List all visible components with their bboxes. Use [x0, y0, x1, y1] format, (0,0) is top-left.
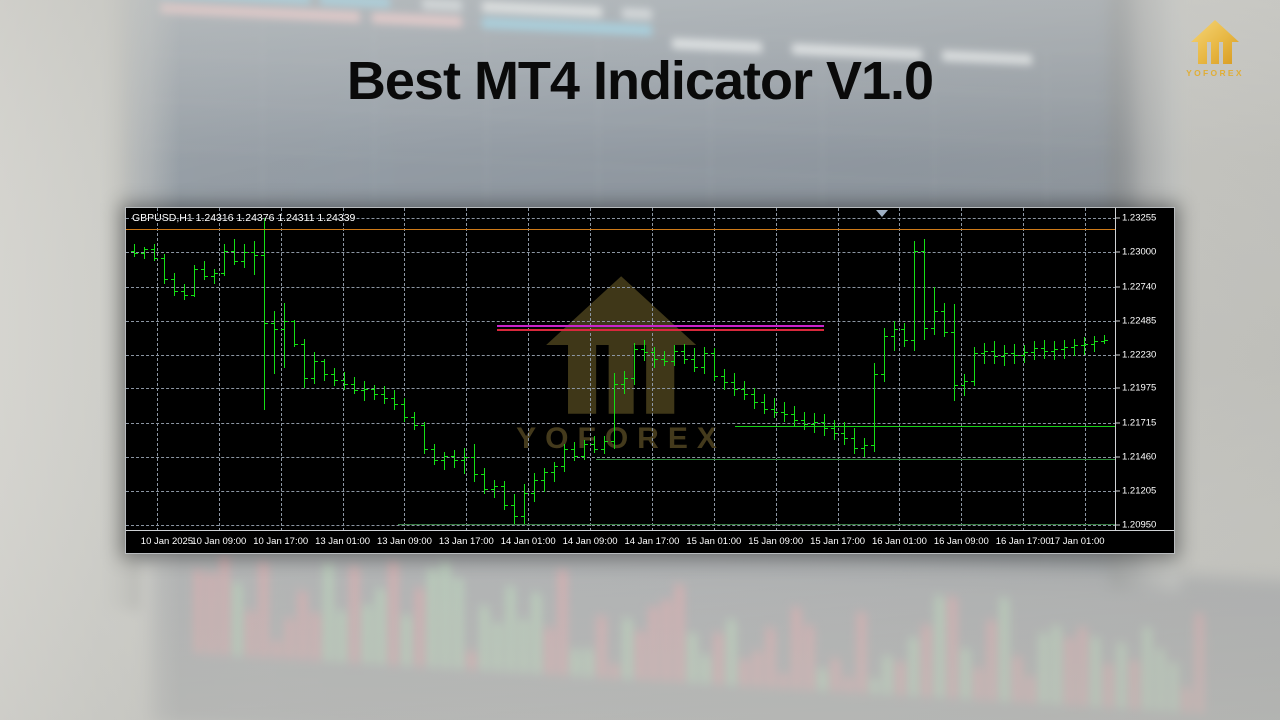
symbol-ohlc-label: GBPUSD,H1 1.24316 1.24376 1.24311 1.2433… — [132, 212, 355, 224]
ohlc-close-tick — [155, 258, 158, 259]
ohlc-close-tick — [1105, 340, 1108, 341]
ohlc-bar — [964, 374, 965, 395]
ohlc-bar — [354, 377, 355, 394]
ohlc-close-tick — [755, 402, 758, 403]
ohlc-close-tick — [295, 344, 298, 345]
ohlc-open-tick — [851, 438, 854, 439]
ohlc-open-tick — [951, 332, 954, 333]
ohlc-close-tick — [165, 279, 168, 280]
ohlc-close-tick — [615, 384, 618, 385]
ohlc-close-tick — [1085, 344, 1088, 345]
ohlc-open-tick — [881, 374, 884, 375]
ohlc-close-tick — [735, 389, 738, 390]
ohlc-close-tick — [435, 460, 438, 461]
ohlc-open-tick — [171, 279, 174, 280]
ohlc-open-tick — [221, 273, 224, 274]
ohlc-bar — [464, 448, 465, 475]
ohlc-open-tick — [721, 376, 724, 377]
price-tick — [1116, 251, 1120, 252]
ohlc-bar — [874, 363, 875, 452]
ohlc-bar — [864, 438, 865, 457]
ohlc-open-tick — [1091, 344, 1094, 345]
ohlc-close-tick — [185, 295, 188, 296]
resistance-magenta — [497, 325, 824, 327]
ohlc-bar — [414, 412, 415, 431]
ohlc-bar — [254, 241, 255, 274]
ohlc-close-tick — [285, 321, 288, 322]
mt4-chart-window[interactable]: YOFOREX GBPUSD,H1 1.24316 1.24376 1.2431… — [125, 207, 1175, 554]
ohlc-open-tick — [701, 367, 704, 368]
ohlc-open-tick — [961, 385, 964, 386]
ohlc-open-tick — [201, 269, 204, 270]
ohlc-open-tick — [671, 361, 674, 362]
ohlc-open-tick — [381, 394, 384, 395]
ohlc-open-tick — [861, 448, 864, 449]
ohlc-bar — [294, 320, 295, 347]
time-tick-label: 14 Jan 01:00 — [501, 536, 556, 547]
ohlc-bar — [524, 484, 525, 525]
ohlc-bar — [274, 311, 275, 375]
chart-plot-area[interactable]: YOFOREX GBPUSD,H1 1.24316 1.24376 1.2431… — [126, 208, 1116, 531]
ohlc-close-tick — [415, 425, 418, 426]
ohlc-bar — [554, 462, 555, 482]
page-title: Best MT4 Indicator V1.0 — [0, 50, 1280, 112]
ohlc-bar — [804, 412, 805, 431]
price-tick-label: 1.23000 — [1122, 246, 1156, 257]
time-tick-label: 15 Jan 17:00 — [810, 536, 865, 547]
ohlc-close-tick — [325, 374, 328, 375]
time-tick-label: 16 Jan 09:00 — [934, 536, 989, 547]
ohlc-bar — [674, 345, 675, 366]
ohlc-open-tick — [731, 382, 734, 383]
ohlc-close-tick — [375, 394, 378, 395]
price-tick-label: 1.21460 — [1122, 452, 1156, 463]
ohlc-bar — [704, 347, 705, 375]
ohlc-close-tick — [235, 261, 238, 262]
ohlc-open-tick — [511, 505, 514, 506]
ohlc-open-tick — [211, 276, 214, 277]
ohlc-close-tick — [395, 404, 398, 405]
ohlc-open-tick — [291, 321, 294, 322]
ohlc-open-tick — [1051, 351, 1054, 352]
ohlc-open-tick — [561, 466, 564, 467]
ohlc-close-tick — [135, 253, 138, 254]
ohlc-open-tick — [311, 378, 314, 379]
ohlc-bar — [1034, 341, 1035, 360]
ohlc-close-tick — [585, 444, 588, 445]
price-scale[interactable]: 1.232551.230001.227401.224851.222301.219… — [1115, 208, 1174, 531]
ohlc-bar — [724, 369, 725, 390]
ohlc-bar — [324, 359, 325, 382]
ohlc-open-tick — [471, 457, 474, 458]
ohlc-open-tick — [821, 422, 824, 423]
ohlc-open-tick — [161, 258, 164, 259]
price-tick — [1116, 320, 1120, 321]
ohlc-bar — [344, 372, 345, 391]
ohlc-open-tick — [131, 251, 134, 252]
ohlc-close-tick — [905, 340, 908, 341]
ohlc-close-tick — [145, 249, 148, 250]
ohlc-open-tick — [831, 428, 834, 429]
ohlc-open-tick — [361, 390, 364, 391]
ohlc-open-tick — [1101, 341, 1104, 342]
ohlc-close-tick — [175, 291, 178, 292]
ohlc-close-tick — [695, 367, 698, 368]
ohlc-close-tick — [845, 438, 848, 439]
ohlc-open-tick — [971, 381, 974, 382]
ohlc-bar — [134, 244, 135, 257]
ohlc-open-tick — [531, 493, 534, 494]
ohlc-bar — [794, 406, 795, 426]
time-tick-label: 10 Jan 17:00 — [253, 536, 308, 547]
ohlc-bar — [314, 352, 315, 384]
ohlc-open-tick — [621, 384, 624, 385]
ohlc-close-tick — [265, 323, 268, 324]
time-scale[interactable]: 10 Jan 202510 Jan 09:0010 Jan 17:0013 Ja… — [126, 530, 1174, 553]
ohlc-bar — [494, 480, 495, 499]
ohlc-bar — [734, 373, 735, 396]
ohlc-bar — [184, 284, 185, 300]
upper-resistance-orange — [126, 229, 1116, 230]
ohlc-close-tick — [355, 390, 358, 391]
ohlc-open-tick — [481, 474, 484, 475]
ohlc-bar — [364, 381, 365, 401]
ohlc-close-tick — [1005, 353, 1008, 354]
ohlc-bar — [404, 398, 405, 422]
ohlc-close-tick — [655, 359, 658, 360]
ohlc-close-tick — [945, 332, 948, 333]
time-tick-label: 14 Jan 17:00 — [624, 536, 679, 547]
ohlc-close-tick — [665, 361, 668, 362]
ohlc-bar — [474, 444, 475, 483]
ohlc-close-tick — [1065, 347, 1068, 348]
ohlc-bar — [514, 494, 515, 523]
support-lower-green — [398, 524, 1116, 525]
ohlc-bar — [654, 347, 655, 368]
ohlc-bar — [604, 436, 605, 455]
ohlc-close-tick — [1015, 355, 1018, 356]
ohlc-bar — [754, 388, 755, 409]
ohlc-close-tick — [765, 409, 768, 410]
price-tick-label: 1.21715 — [1122, 418, 1156, 429]
ohlc-bar — [204, 261, 205, 280]
time-tick-label: 16 Jan 17:00 — [996, 536, 1051, 547]
ohlc-close-tick — [1045, 351, 1048, 352]
ohlc-open-tick — [1061, 349, 1064, 350]
ohlc-open-tick — [771, 409, 774, 410]
ohlc-bar — [664, 351, 665, 367]
ohlc-close-tick — [775, 412, 778, 413]
ohlc-open-tick — [301, 344, 304, 345]
ohlc-open-tick — [261, 255, 264, 256]
ohlc-bar — [784, 402, 785, 422]
ohlc-open-tick — [501, 486, 504, 487]
time-tick-label: 13 Jan 17:00 — [439, 536, 494, 547]
ohlc-open-tick — [421, 425, 424, 426]
ohlc-close-tick — [555, 466, 558, 467]
price-tick — [1116, 218, 1120, 219]
promo-banner: Best MT4 Indicator V1.0 YOFOREX — [0, 0, 1280, 720]
price-tick — [1116, 457, 1120, 458]
ohlc-close-tick — [1075, 345, 1078, 346]
ohlc-open-tick — [591, 444, 594, 445]
ohlc-open-tick — [1081, 345, 1084, 346]
ohlc-bar — [444, 452, 445, 471]
price-tick-label: 1.22230 — [1122, 349, 1156, 360]
ohlc-open-tick — [541, 480, 544, 481]
time-tick-label: 15 Jan 09:00 — [748, 536, 803, 547]
ohlc-open-tick — [1031, 352, 1034, 353]
ohlc-bar — [624, 371, 625, 395]
ohlc-close-tick — [1055, 349, 1058, 350]
ohlc-open-tick — [981, 353, 984, 354]
ohlc-open-tick — [1001, 356, 1004, 357]
ohlc-open-tick — [811, 424, 814, 425]
ohlc-close-tick — [455, 460, 458, 461]
ohlc-bar — [1064, 340, 1065, 359]
ohlc-close-tick — [975, 353, 978, 354]
ohlc-bar — [1084, 337, 1085, 354]
ohlc-close-tick — [1095, 341, 1098, 342]
ohlc-open-tick — [941, 311, 944, 312]
ohlc-bar — [594, 436, 595, 453]
ohlc-bar — [574, 442, 575, 461]
ohlc-close-tick — [1025, 352, 1028, 353]
ohlc-close-tick — [995, 356, 998, 357]
ohlc-open-tick — [681, 351, 684, 352]
ohlc-bar — [1074, 339, 1075, 356]
ohlc-open-tick — [661, 359, 664, 360]
ohlc-open-tick — [191, 295, 194, 296]
price-tick-label: 1.21205 — [1122, 486, 1156, 497]
ohlc-close-tick — [635, 349, 638, 350]
ohlc-open-tick — [521, 516, 524, 517]
ohlc-bar — [1044, 340, 1045, 359]
price-tick-label: 1.22740 — [1122, 281, 1156, 292]
sell-arrow-marker-icon — [876, 210, 888, 217]
ohlc-open-tick — [251, 252, 254, 253]
ohlc-bar — [914, 241, 915, 350]
ohlc-open-tick — [641, 349, 644, 350]
support-mid-green — [596, 459, 1116, 460]
price-tick — [1116, 286, 1120, 287]
ohlc-open-tick — [401, 404, 404, 405]
ohlc-close-tick — [675, 351, 678, 352]
ohlc-open-tick — [801, 420, 804, 421]
ohlc-close-tick — [935, 311, 938, 312]
ohlc-close-tick — [885, 336, 888, 337]
ohlc-bar — [224, 244, 225, 276]
ohlc-bar — [484, 468, 485, 495]
ohlc-open-tick — [1041, 348, 1044, 349]
ohlc-open-tick — [921, 251, 924, 252]
yoforex-arrow-house-icon — [1189, 18, 1241, 66]
ohlc-open-tick — [491, 489, 494, 490]
ohlc-bar — [824, 414, 825, 435]
ohlc-bar — [954, 304, 955, 401]
resistance-red — [497, 329, 824, 331]
ohlc-open-tick — [391, 398, 394, 399]
ohlc-bar — [334, 368, 335, 387]
time-tick-label: 13 Jan 09:00 — [377, 536, 432, 547]
ohlc-bar — [1094, 336, 1095, 352]
ohlc-open-tick — [241, 261, 244, 262]
ohlc-close-tick — [805, 424, 808, 425]
ohlc-open-tick — [691, 359, 694, 360]
price-tick — [1116, 354, 1120, 355]
ohlc-bar — [694, 348, 695, 372]
ohlc-open-tick — [911, 340, 914, 341]
ohlc-close-tick — [405, 417, 408, 418]
ohlc-open-tick — [451, 456, 454, 457]
ohlc-open-tick — [551, 472, 554, 473]
ohlc-close-tick — [215, 273, 218, 274]
support-bright-green — [735, 426, 1116, 427]
ohlc-open-tick — [781, 412, 784, 413]
ohlc-open-tick — [751, 394, 754, 395]
logo-wordmark: YOFOREX — [1172, 68, 1258, 78]
price-tick-label: 1.21975 — [1122, 383, 1156, 394]
ohlc-close-tick — [785, 414, 788, 415]
ohlc-open-tick — [761, 402, 764, 403]
ohlc-close-tick — [545, 472, 548, 473]
ohlc-close-tick — [815, 422, 818, 423]
ohlc-close-tick — [445, 456, 448, 457]
ohlc-close-tick — [515, 516, 518, 517]
ohlc-open-tick — [991, 351, 994, 352]
ohlc-bar — [304, 339, 305, 388]
price-tick — [1116, 525, 1120, 526]
ohlc-bar — [984, 343, 985, 364]
ohlc-bar — [244, 244, 245, 268]
ohlc-open-tick — [611, 441, 614, 442]
time-tick-label: 17 Jan 01:00 — [1050, 536, 1105, 547]
ohlc-open-tick — [431, 449, 434, 450]
ohlc-close-tick — [795, 420, 798, 421]
price-tick-label: 1.20950 — [1122, 520, 1156, 531]
ohlc-close-tick — [255, 255, 258, 256]
ohlc-open-tick — [741, 389, 744, 390]
price-tick — [1116, 423, 1120, 424]
ohlc-open-tick — [441, 460, 444, 461]
ohlc-open-tick — [791, 414, 794, 415]
ohlc-open-tick — [461, 460, 464, 461]
ohlc-bar — [174, 273, 175, 296]
brand-logo[interactable]: YOFOREX — [1172, 18, 1258, 84]
ohlc-open-tick — [901, 329, 904, 330]
ohlc-open-tick — [601, 449, 604, 450]
ohlc-close-tick — [315, 361, 318, 362]
ohlc-open-tick — [371, 389, 374, 390]
ohlc-open-tick — [231, 251, 234, 252]
ohlc-close-tick — [625, 378, 628, 379]
price-tick-label: 1.23255 — [1122, 213, 1156, 224]
ohlc-open-tick — [151, 249, 154, 250]
ohlc-close-tick — [225, 251, 228, 252]
ohlc-bar — [534, 473, 535, 502]
ohlc-close-tick — [425, 449, 428, 450]
ohlc-bar — [284, 303, 285, 368]
ohlc-bar — [904, 323, 905, 347]
ohlc-close-tick — [205, 276, 208, 277]
ohlc-close-tick — [195, 269, 198, 270]
time-tick-label: 10 Jan 09:00 — [191, 536, 246, 547]
ohlc-close-tick — [345, 384, 348, 385]
ohlc-close-tick — [645, 352, 648, 353]
ohlc-close-tick — [915, 251, 918, 252]
ohlc-close-tick — [535, 480, 538, 481]
ohlc-bar — [394, 390, 395, 410]
ohlc-close-tick — [335, 380, 338, 381]
time-tick-label: 16 Jan 01:00 — [872, 536, 927, 547]
ohlc-close-tick — [485, 489, 488, 490]
ohlc-bar — [644, 340, 645, 361]
ohlc-close-tick — [985, 351, 988, 352]
time-tick-label: 13 Jan 01:00 — [315, 536, 370, 547]
ohlc-bar — [434, 444, 435, 465]
time-tick-label: 14 Jan 09:00 — [563, 536, 618, 547]
ohlc-bar — [1004, 345, 1005, 366]
ohlc-close-tick — [465, 457, 468, 458]
ohlc-close-tick — [865, 445, 868, 446]
ohlc-open-tick — [931, 328, 934, 329]
ohlc-open-tick — [841, 433, 844, 434]
ohlc-close-tick — [365, 389, 368, 390]
ohlc-open-tick — [351, 384, 354, 385]
ohlc-close-tick — [565, 449, 568, 450]
time-tick-label: 10 Jan 2025 — [141, 536, 193, 547]
ohlc-close-tick — [505, 505, 508, 506]
ohlc-open-tick — [181, 291, 184, 292]
ohlc-close-tick — [715, 376, 718, 377]
ohlc-close-tick — [835, 433, 838, 434]
ohlc-open-tick — [281, 329, 284, 330]
ohlc-open-tick — [331, 374, 334, 375]
ohlc-bar — [994, 341, 995, 364]
ohlc-bar — [924, 239, 925, 340]
ohlc-bar — [374, 385, 375, 400]
ohlc-close-tick — [475, 474, 478, 475]
ohlc-bar — [744, 381, 745, 400]
ohlc-close-tick — [745, 394, 748, 395]
ohlc-close-tick — [925, 328, 928, 329]
ohlc-bar — [684, 344, 685, 364]
ohlc-close-tick — [825, 428, 828, 429]
ohlc-close-tick — [605, 441, 608, 442]
ohlc-close-tick — [575, 456, 578, 457]
ohlc-close-tick — [685, 359, 688, 360]
ohlc-bar — [1024, 345, 1025, 362]
ohlc-open-tick — [891, 336, 894, 337]
ohlc-bar — [214, 269, 215, 284]
ohlc-close-tick — [725, 382, 728, 383]
ohlc-open-tick — [1071, 347, 1074, 348]
ohlc-close-tick — [595, 449, 598, 450]
ohlc-bar — [264, 218, 265, 410]
ohlc-close-tick — [895, 329, 898, 330]
price-tick-label: 1.22485 — [1122, 315, 1156, 326]
ohlc-bar — [764, 394, 765, 414]
ohlc-open-tick — [871, 445, 874, 446]
ohlc-close-tick — [705, 353, 708, 354]
ohlc-open-tick — [1011, 353, 1014, 354]
ohlc-bar — [584, 440, 585, 460]
ohlc-close-tick — [525, 493, 528, 494]
price-tick — [1116, 388, 1120, 389]
ohlc-bars — [126, 208, 1116, 531]
ohlc-bar — [854, 428, 855, 455]
ohlc-bar — [384, 386, 385, 403]
